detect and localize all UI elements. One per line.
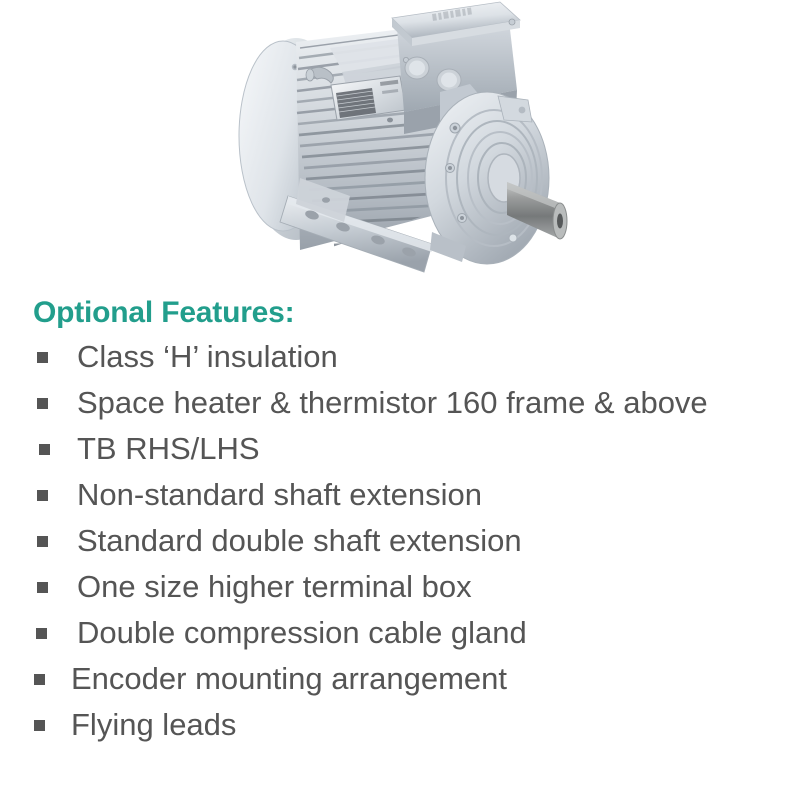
square-bullet-icon bbox=[34, 674, 45, 685]
list-item-label: TB RHS/LHS bbox=[77, 429, 260, 469]
list-item-label: Double compression cable gland bbox=[77, 613, 527, 653]
list-item-label: One size higher terminal box bbox=[77, 567, 472, 607]
features-list: Class ‘H’ insulation Space heater & ther… bbox=[0, 334, 800, 748]
square-bullet-icon bbox=[37, 582, 48, 593]
list-item: Space heater & thermistor 160 frame & ab… bbox=[0, 380, 800, 426]
list-item: Encoder mounting arrangement bbox=[0, 656, 800, 702]
list-item: TB RHS/LHS bbox=[0, 426, 800, 472]
list-item-label: Standard double shaft extension bbox=[77, 521, 522, 561]
square-bullet-icon bbox=[39, 444, 50, 455]
motor-illustration bbox=[0, 0, 800, 292]
product-image bbox=[0, 0, 800, 292]
square-bullet-icon bbox=[34, 720, 45, 731]
list-item: Flying leads bbox=[0, 702, 800, 748]
optional-features-section: Optional Features: Class ‘H’ insulation … bbox=[0, 292, 800, 748]
list-item: Standard double shaft extension bbox=[0, 518, 800, 564]
square-bullet-icon bbox=[37, 536, 48, 547]
page-title: Optional Features: bbox=[0, 292, 800, 334]
square-bullet-icon bbox=[37, 352, 48, 363]
list-item: One size higher terminal box bbox=[0, 564, 800, 610]
list-item-label: Space heater & thermistor 160 frame & ab… bbox=[77, 383, 708, 423]
list-item-label: Flying leads bbox=[71, 705, 236, 745]
list-item: Double compression cable gland bbox=[0, 610, 800, 656]
square-bullet-icon bbox=[37, 490, 48, 501]
list-item: Class ‘H’ insulation bbox=[0, 334, 800, 380]
list-item-label: Encoder mounting arrangement bbox=[71, 659, 507, 699]
square-bullet-icon bbox=[36, 628, 47, 639]
list-item: Non-standard shaft extension bbox=[0, 472, 800, 518]
list-item-label: Non-standard shaft extension bbox=[77, 475, 482, 515]
list-item-label: Class ‘H’ insulation bbox=[77, 337, 338, 377]
square-bullet-icon bbox=[37, 398, 48, 409]
